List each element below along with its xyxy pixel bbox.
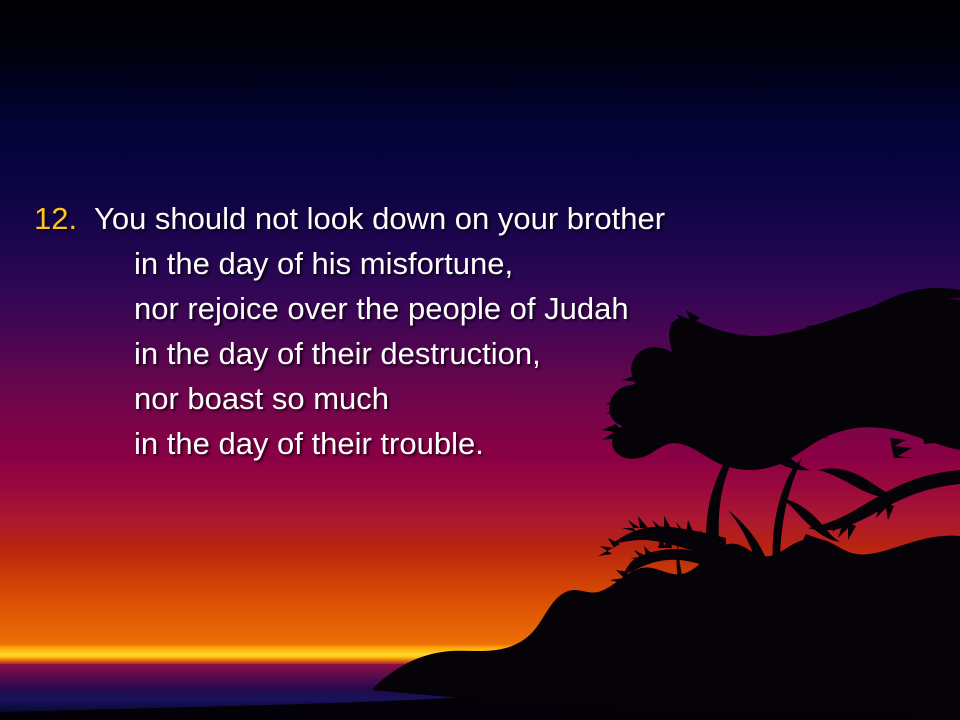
verse-text-block: 12. You should not look down on your bro… <box>0 196 960 466</box>
verse-line-3: nor rejoice over the people of Judah <box>94 286 960 331</box>
verse-line-2: in the day of his misfortune, <box>94 241 960 286</box>
water-sheen <box>0 688 960 720</box>
horizon-glow-band <box>0 644 960 666</box>
verse-line-1: You should not look down on your brother <box>94 196 960 241</box>
verse-line-4: in the day of their destruction, <box>94 331 960 376</box>
verse-line-group: You should not look down on your brother… <box>94 196 960 466</box>
verse-line-6: in the day of their trouble. <box>94 421 960 466</box>
verse-line-5: nor boast so much <box>94 376 960 421</box>
verse-row: 12. You should not look down on your bro… <box>0 196 960 466</box>
slide-canvas: 12. You should not look down on your bro… <box>0 0 960 720</box>
verse-number: 12. <box>0 196 94 241</box>
